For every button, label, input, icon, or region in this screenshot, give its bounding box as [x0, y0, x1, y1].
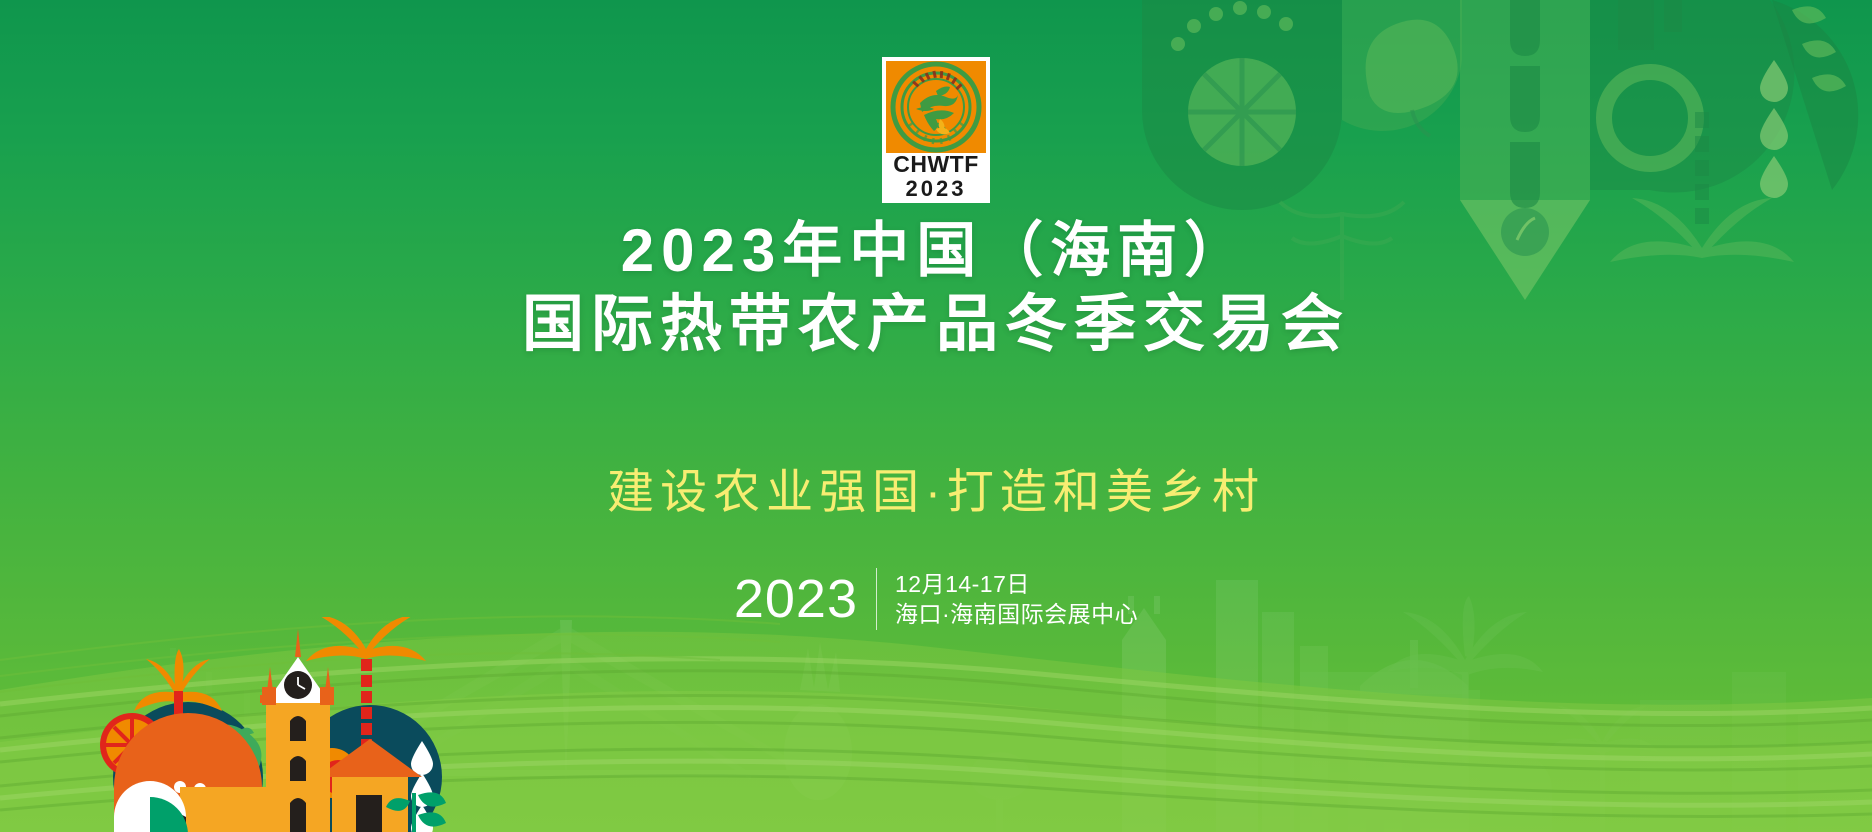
logo-wordmark: CHWTF 2023 — [886, 153, 986, 200]
meta-year: 2023 — [734, 569, 876, 629]
hainan-landmarks-illustration — [70, 617, 490, 832]
orange-palm-tree — [306, 617, 426, 661]
chwtf-emblem-icon — [886, 61, 986, 153]
meta-text-block: 12月14-17日 海口·海南国际会展中心 — [877, 570, 1138, 629]
meta-date: 12月14-17日 — [895, 570, 1138, 599]
poster-canvas: CHWTF 2023 2023年中国（海南） 国际热带农产品冬季交易会 建设农业… — [0, 0, 1872, 832]
logo-acronym: CHWTF — [893, 153, 979, 176]
title-line-2: 国际热带农产品冬季交易会 — [0, 288, 1872, 362]
clock-tower — [260, 629, 334, 832]
meta-venue: 海口·海南国际会展中心 — [895, 599, 1138, 629]
emblem-svg — [890, 61, 982, 153]
event-logo[interactable]: CHWTF 2023 — [882, 57, 990, 203]
subtitle-slogan: 建设农业强国·打造和美乡村 — [0, 464, 1872, 520]
logo-year: 2023 — [906, 178, 967, 200]
title-line-1: 2023年中国（海南） — [0, 214, 1872, 288]
page-title: 2023年中国（海南） 国际热带农产品冬季交易会 — [0, 214, 1872, 362]
